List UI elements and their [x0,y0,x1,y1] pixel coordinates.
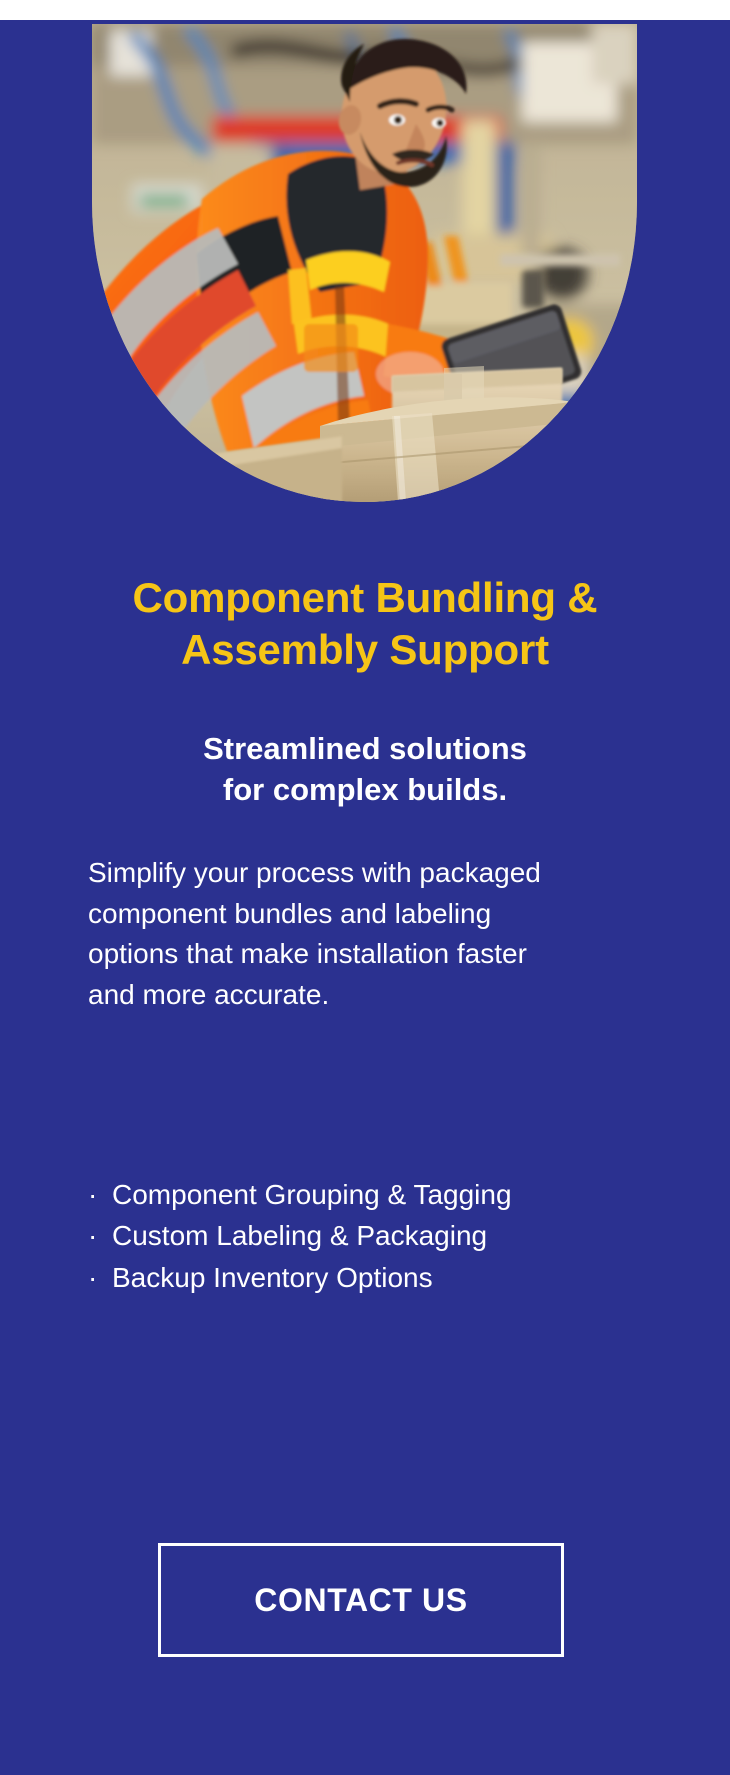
bullet-marker-icon: · [88,1175,97,1215]
list-item-label: Component Grouping & Tagging [112,1179,512,1210]
list-item-label: Custom Labeling & Packaging [112,1220,487,1251]
hero-image [92,24,637,502]
page-title: Component Bundling & Assembly Support [65,572,665,676]
warehouse-worker-illustration [92,24,637,502]
list-item-label: Backup Inventory Options [112,1262,433,1293]
page-root: Component Bundling & Assembly Support St… [0,0,730,1775]
list-item: · Component Grouping & Tagging [88,1175,648,1215]
bullet-marker-icon: · [88,1216,97,1256]
page-subtitle: Streamlined solutions for complex builds… [65,729,665,811]
title-line-2: Assembly Support [181,626,549,673]
list-item: · Custom Labeling & Packaging [88,1216,648,1256]
subtitle-line-1: Streamlined solutions [203,731,527,766]
title-line-1: Component Bundling & [133,574,598,621]
subtitle-line-2: for complex builds. [223,772,507,807]
bullet-marker-icon: · [88,1258,97,1298]
body-paragraph: Simplify your process with packaged comp… [88,853,576,1015]
list-item: · Backup Inventory Options [88,1258,648,1298]
blue-panel: Component Bundling & Assembly Support St… [0,20,730,1775]
contact-us-button[interactable]: CONTACT US [158,1543,564,1657]
feature-list: · Component Grouping & Tagging · Custom … [88,1175,648,1299]
